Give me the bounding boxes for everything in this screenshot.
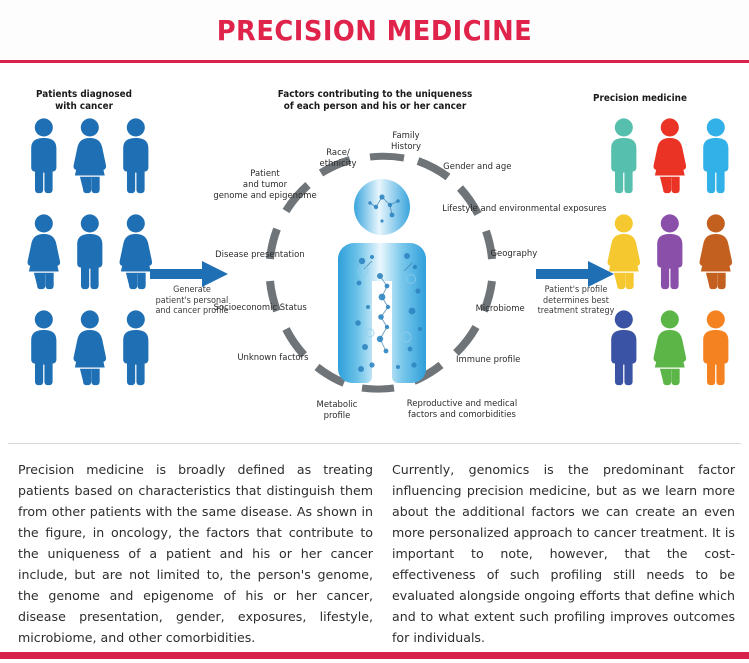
- page-title: PRECISION MEDICINE: [217, 14, 532, 47]
- right-panel-title: Precision medicine: [566, 93, 715, 105]
- factor-label-patient-tumor-genome-epigenome: Patient and tumor genome and epigenome: [205, 169, 325, 202]
- patient-person-1-male: [31, 118, 56, 193]
- section-divider: [8, 443, 741, 444]
- patient-person-6-female: [120, 214, 153, 289]
- factor-genome-line2: and tumor: [243, 180, 287, 190]
- factor-label-microbiome: Microbiome: [476, 304, 525, 315]
- precision-patient-person-9-male: [703, 310, 728, 385]
- infographic-page: PRECISION MEDICINE Patients diagnosed wi…: [0, 0, 749, 663]
- patients-group: [25, 118, 165, 418]
- right-caption-line-1: Patient's profile: [545, 285, 608, 295]
- patient-person-2-female: [74, 118, 107, 193]
- factor-metabolic-line2: profile: [324, 411, 351, 421]
- factor-label-disease-presentation: Disease presentation: [199, 250, 304, 261]
- factor-label-immune-profile: Immune profile: [456, 355, 520, 366]
- center-panel-title-line1: Factors contributing to the uniqueness: [278, 89, 472, 100]
- precision-patient-person-2-female: [654, 118, 687, 193]
- factor-metabolic-line1: Metabolic: [317, 400, 358, 410]
- left-panel-title: Patients diagnosed with cancer: [26, 89, 141, 113]
- factor-label-race-ethnicity: Race/ ethnicity: [315, 148, 360, 170]
- factor-label-unknown-factors: Unknown factors: [230, 353, 309, 364]
- center-panel-title: Factors contributing to the uniqueness o…: [249, 89, 500, 113]
- factor-genome-line1: Patient: [250, 169, 279, 179]
- factor-reproductive-line1: Reproductive and medical: [407, 399, 517, 409]
- precision-patient-person-7-male: [611, 310, 636, 385]
- factors-circle: [222, 111, 542, 431]
- factor-race-line1: Race/: [326, 148, 350, 158]
- factor-label-family-history: Family History: [383, 131, 428, 153]
- patient-person-9-male: [123, 310, 148, 385]
- left-panel-title-line2: with cancer: [55, 101, 113, 112]
- factor-label-reproductive-medical-factors: Reproductive and medical factors and com…: [406, 399, 519, 421]
- factor-label-geography: Geography: [490, 249, 537, 260]
- factor-family-line2: History: [391, 142, 421, 152]
- caption-line-1: Generate: [173, 285, 211, 295]
- factor-label-socioeconomic-status: Socioeconomic Status: [205, 303, 307, 314]
- precision-patient-person-3-male: [703, 118, 728, 193]
- central-person-figure: [338, 179, 426, 383]
- factor-label-metabolic-profile: Metabolic profile: [308, 400, 366, 422]
- patient-person-8-female: [74, 310, 107, 385]
- precision-patient-person-1-male: [611, 118, 636, 193]
- patient-person-4-female: [28, 214, 61, 289]
- factor-race-line2: ethnicity: [320, 159, 357, 169]
- precision-patient-person-4-female: [608, 214, 641, 289]
- factor-reproductive-line2: factors and comorbidities: [408, 410, 516, 420]
- factor-genome-line3: genome and epigenome: [213, 191, 316, 201]
- left-panel-title-line1: Patients diagnosed: [36, 89, 132, 100]
- summary-paragraph-left: Precision medicine is broadly defined as…: [18, 459, 373, 648]
- patient-person-3-male: [123, 118, 148, 193]
- factor-family-line1: Family: [392, 131, 419, 141]
- precision-patient-person-5-male: [657, 214, 682, 289]
- patient-person-5-male: [77, 214, 102, 289]
- factor-label-lifestyle-environmental-exposures: Lifestyle and environmental exposures: [442, 204, 606, 215]
- footer-bar: [0, 652, 749, 659]
- patient-person-7-male: [31, 310, 56, 385]
- page-header: PRECISION MEDICINE: [0, 0, 749, 60]
- precision-patients-group: [600, 118, 749, 418]
- summary-paragraph-right: Currently, genomics is the predominant f…: [392, 459, 735, 648]
- precision-patient-person-6-female: [700, 214, 733, 289]
- factor-label-gender-and-age: Gender and age: [443, 162, 511, 173]
- precision-patient-person-8-female: [654, 310, 687, 385]
- figure-area: Patients diagnosed with cancer Factors c…: [0, 63, 749, 443]
